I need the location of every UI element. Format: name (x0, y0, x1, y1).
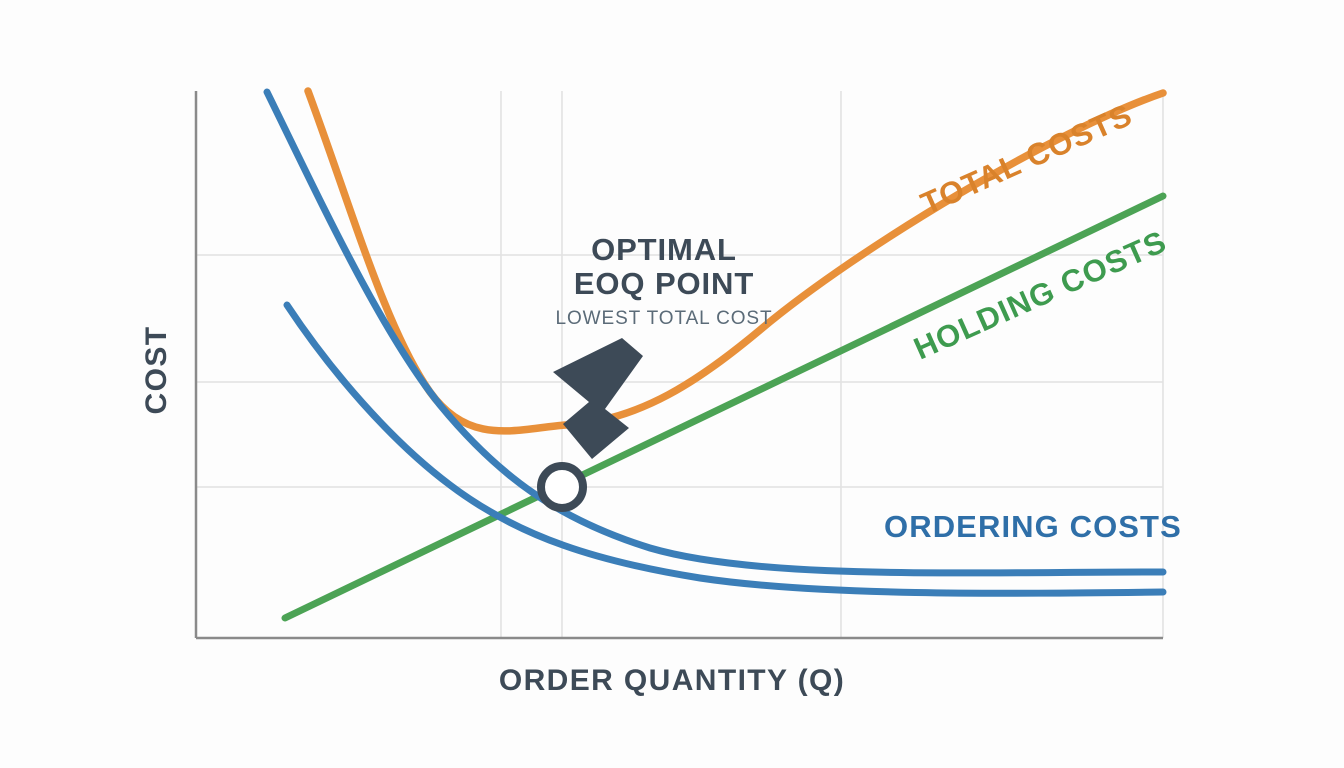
annotation-title-line1: OPTIMAL (591, 232, 737, 267)
optimal-eoq-point-marker (541, 466, 583, 508)
chart-background (0, 0, 1344, 768)
eoq-marker-ring (541, 466, 583, 508)
eoq-chart-canvas: OPTIMAL EOQ POINT LOWEST TOTAL COST TOTA… (0, 0, 1344, 768)
series-label-ordering-costs: ORDERING COSTS (884, 509, 1182, 544)
annotation-title-line2: EOQ POINT (574, 266, 754, 301)
x-axis-title: ORDER QUANTITY (Q) (499, 664, 845, 697)
annotation-subtitle: LOWEST TOTAL COST (556, 308, 773, 329)
y-axis-title: COST (140, 326, 173, 415)
eoq-chart-figure: OPTIMAL EOQ POINT LOWEST TOTAL COST TOTA… (0, 0, 1344, 768)
